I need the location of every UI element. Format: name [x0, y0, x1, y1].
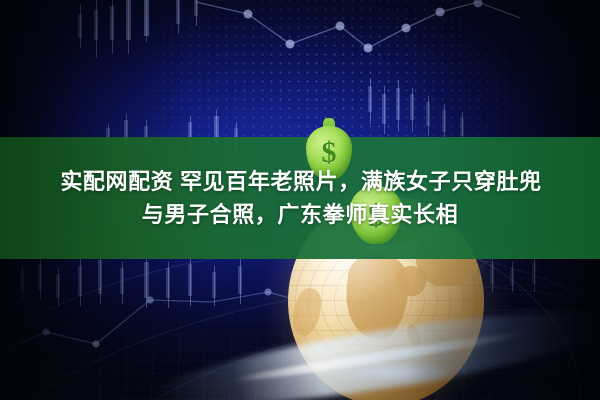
banner-image: $ $ 实配网配资 罕见百年老照片，满族女子只穿肚兜 与男子合照，广东拳师真实长…: [0, 0, 600, 400]
headline-line-2: 与男子合照，广东拳师真实长相: [142, 203, 458, 226]
headline-line-1: 实配网配资 罕见百年老照片，满族女子只穿肚兜: [58, 170, 541, 193]
headline-text-block: 实配网配资 罕见百年老照片，满族女子只穿肚兜 与男子合照，广东拳师真实长相: [0, 137, 600, 259]
